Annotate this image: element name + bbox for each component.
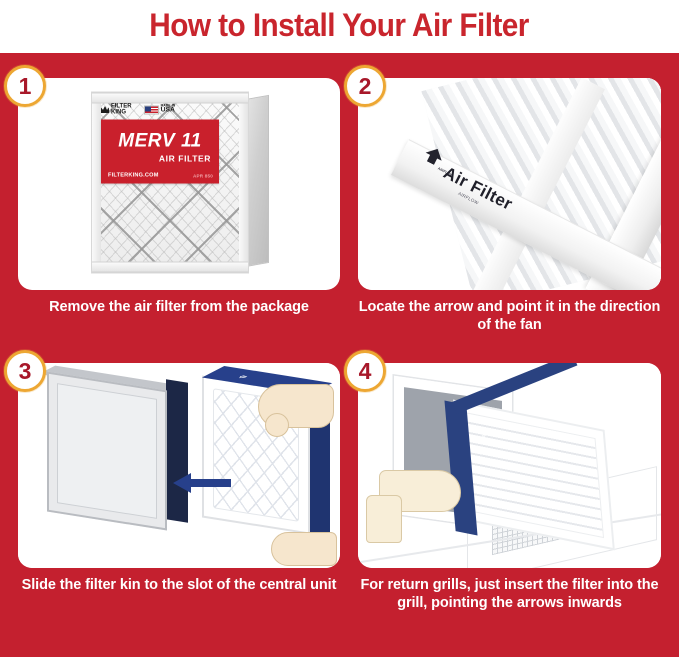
step-2-image: AIRFLOW Air Filter AIRFLOW	[358, 78, 661, 290]
filter-rail-bottom	[92, 262, 248, 273]
step-card-4: ⇦ 4	[358, 363, 661, 568]
made-in-usa-mark: MADE IN USA	[144, 105, 176, 115]
step-4-image: ⇦	[358, 363, 661, 568]
hand-top-holding-filter	[258, 384, 334, 428]
infographic-page: How to Install Your Air Filter	[0, 0, 679, 657]
step-caption-3: Slide the filter kin to the slot of the …	[18, 576, 340, 594]
step-caption-2: Locate the arrow and point it in the dir…	[358, 298, 661, 334]
step-card-1: FILTER KING MADE IN USA	[18, 78, 340, 290]
step-1-image: FILTER KING MADE IN USA	[18, 78, 340, 290]
step-card-2: AIRFLOW Air Filter AIRFLOW 2	[358, 78, 661, 290]
step-caption-1: Remove the air filter from the package	[18, 298, 340, 316]
brand-website-text: FILTERKING.COM	[108, 173, 159, 179]
title-bar: How to Install Your Air Filter	[0, 0, 679, 53]
air-filter-subhead: AIR FILTER	[101, 154, 211, 164]
step-badge-1: 1	[4, 65, 46, 107]
air-filter-corner-photo: AIRFLOW Air Filter AIRFLOW	[358, 78, 661, 290]
usa-flag-icon	[144, 105, 159, 114]
central-unit-panel	[47, 372, 167, 531]
red-canvas: FILTER KING MADE IN USA	[0, 53, 679, 657]
filter-rail-right	[239, 93, 248, 273]
merv-rating-text: MERV 11	[101, 132, 219, 151]
step-badge-3: 3	[4, 350, 46, 392]
step-badge-2: 2	[344, 65, 386, 107]
return-grill-illustration: ⇦	[358, 363, 661, 568]
brand-text: FILTER KING	[111, 103, 132, 116]
filter-red-label: MERV 11 AIR FILTER FILTERKING.COM APR 85…	[101, 120, 219, 184]
crown-icon	[101, 106, 109, 113]
slide-direction-arrow-icon	[173, 472, 231, 494]
merv-11-air-filter-box: FILTER KING MADE IN USA	[89, 92, 269, 277]
filter-brand-row: FILTER KING MADE IN USA	[101, 103, 233, 117]
step-3-image: ⇦	[18, 363, 340, 568]
unit-panel-inset	[57, 384, 157, 520]
step-badge-4: 4	[344, 350, 386, 392]
hand-bottom-holding-filter	[271, 532, 337, 566]
page-title: How to Install Your Air Filter	[150, 9, 530, 45]
filter-king-logo: FILTER KING	[101, 103, 132, 116]
step-caption-4: For return grills, just insert the filte…	[358, 576, 661, 612]
unit-slot-opening	[166, 380, 188, 523]
hand-inserting-filter	[379, 470, 461, 512]
filter-rail-left	[92, 93, 101, 273]
slide-filter-illustration: ⇦	[18, 363, 340, 568]
apr-rating-text: APR 850	[193, 174, 213, 179]
step-card-3: ⇦ 3	[18, 363, 340, 568]
made-in-usa-text: MADE IN USA	[161, 105, 176, 115]
